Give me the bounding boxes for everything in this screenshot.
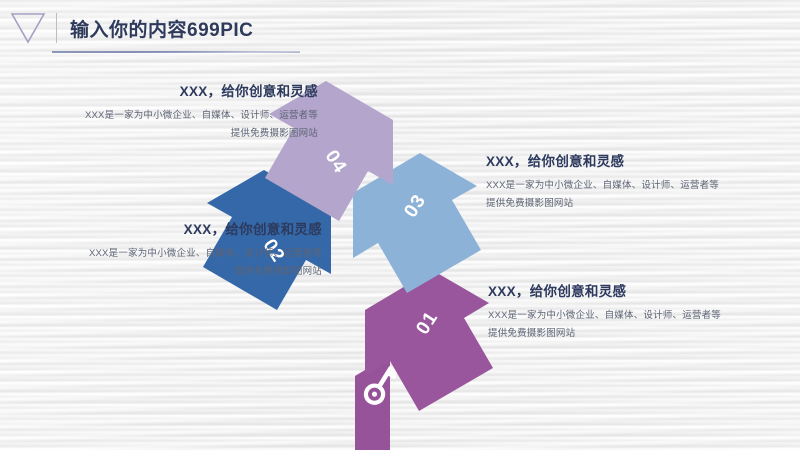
- step-body-02: XXX是一家为中小微企业、自媒体、设计师、运营者等提供免费摄影图网站: [82, 245, 322, 280]
- step-text-02: XXX，给你创意和灵感 XXX是一家为中小微企业、自媒体、设计师、运营者等提供免…: [82, 218, 322, 280]
- step-body-01: XXX是一家为中小微企业、自媒体、设计师、运营者等提供免费摄影图网站: [488, 307, 728, 342]
- triangle-icon: [0, 0, 56, 56]
- step-heading-04: XXX，给你创意和灵感: [78, 80, 318, 100]
- step-arrow-03[interactable]: 03: [353, 153, 481, 293]
- step-text-01: XXX，给你创意和灵感 XXX是一家为中小微企业、自媒体、设计师、运营者等提供免…: [488, 280, 728, 342]
- step-heading-02: XXX，给你创意和灵感: [82, 218, 322, 238]
- chain-base: [355, 355, 400, 450]
- step-heading-03: XXX，给你创意和灵感: [486, 150, 726, 170]
- step-text-03: XXX，给你创意和灵感 XXX是一家为中小微企业、自媒体、设计师、运营者等提供免…: [486, 150, 726, 212]
- slide-header: 输入你的内容699PIC: [0, 0, 800, 56]
- header-divider: [56, 13, 57, 43]
- step-text-04: XXX，给你创意和灵感 XXX是一家为中小微企业、自媒体、设计师、运营者等提供免…: [78, 80, 318, 142]
- page-title: 输入你的内容699PIC: [70, 15, 253, 42]
- step-body-03: XXX是一家为中小微企业、自媒体、设计师、运营者等提供免费摄影图网站: [486, 177, 726, 212]
- slide-canvas: 输入你的内容699PIC 01 02 03: [0, 0, 800, 450]
- step-heading-01: XXX，给你创意和灵感: [488, 280, 728, 300]
- step-body-04: XXX是一家为中小微企业、自媒体、设计师、运营者等提供免费摄影图网站: [78, 107, 318, 142]
